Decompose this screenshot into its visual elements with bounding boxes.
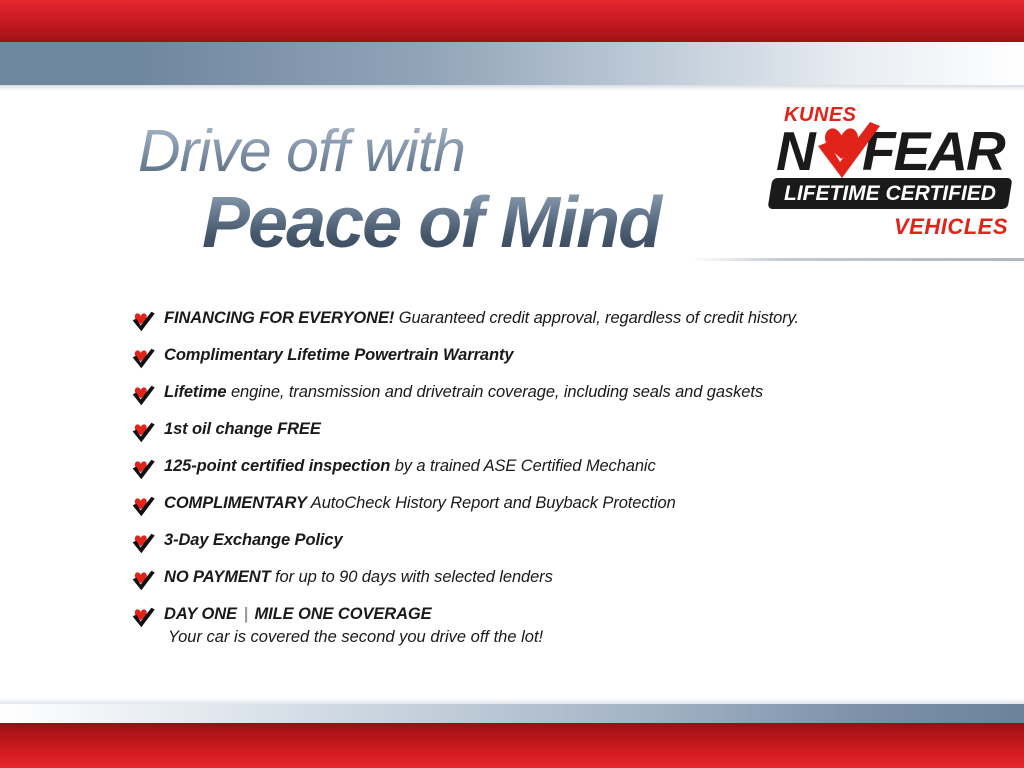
check-heart-bullet-icon (130, 496, 157, 517)
bottom-gray-gradient-band (0, 704, 1024, 723)
benefit-item: Complimentary Lifetime Powertrain Warran… (130, 345, 960, 376)
check-heart-bullet-icon (130, 311, 157, 332)
check-heart-bullet-icon (130, 348, 157, 369)
check-heart-bullet-icon (130, 459, 157, 480)
benefit-text: DAY ONE | MILE ONE COVERAGE (164, 604, 960, 625)
benefit-bold-secondary: MILE ONE COVERAGE (254, 605, 431, 623)
logo-letter-n: N (776, 125, 814, 177)
logo-word-fear: FEAR (862, 125, 1004, 177)
benefit-item: Lifetime engine, transmission and drivet… (130, 382, 960, 413)
logo-lifetime-certified-text: LIFETIME CERTIFIED (770, 178, 1010, 209)
headline-block: Drive off with Peace of Mind (136, 122, 716, 259)
benefit-detail: by a trained ASE Certified Mechanic (390, 457, 655, 475)
benefit-separator: | (237, 605, 255, 623)
benefit-item: NO PAYMENT for up to 90 days with select… (130, 567, 960, 598)
bottom-red-accent-band (0, 723, 1024, 768)
benefit-item: FINANCING FOR EVERYONE! Guaranteed credi… (130, 308, 960, 339)
headline-line-2: Peace of Mind (202, 187, 716, 259)
benefit-text: FINANCING FOR EVERYONE! Guaranteed credi… (164, 308, 960, 329)
benefit-detail: AutoCheck History Report and Buyback Pro… (307, 494, 676, 512)
benefit-text: 1st oil change FREE (164, 419, 960, 440)
check-heart-bullet-icon (130, 570, 157, 591)
benefit-text: 125-point certified inspection by a trai… (164, 456, 960, 477)
benefit-text: NO PAYMENT for up to 90 days with select… (164, 567, 960, 588)
benefit-item: COMPLIMENTARY AutoCheck History Report a… (130, 493, 960, 524)
benefit-bold: 125-point certified inspection (164, 457, 390, 475)
benefit-bold: Complimentary Lifetime Powertrain Warran… (164, 346, 513, 364)
check-heart-icon (816, 122, 882, 180)
benefit-item: 1st oil change FREE (130, 419, 960, 450)
benefit-item: 3-Day Exchange Policy (130, 530, 960, 561)
benefit-detail: for up to 90 days with selected lenders (271, 568, 553, 586)
benefit-detail: engine, transmission and drivetrain cove… (226, 383, 763, 401)
benefit-bold: 1st oil change FREE (164, 420, 321, 438)
benefit-text: 3-Day Exchange Policy (164, 530, 960, 551)
benefit-item: DAY ONE | MILE ONE COVERAGEYour car is c… (130, 604, 960, 648)
top-band-shadow (0, 85, 1024, 91)
benefit-bold: DAY ONE (164, 605, 237, 623)
kunes-no-fear-logo: KUNES N FEAR LIFETIME CERTIFIED VEHICLES (770, 104, 1016, 250)
benefits-list: FINANCING FOR EVERYONE! Guaranteed credi… (130, 308, 960, 654)
logo-vehicles-text: VEHICLES (894, 214, 1008, 240)
logo-nofear-wordmark: N FEAR (776, 125, 1016, 177)
benefit-bold: COMPLIMENTARY (164, 494, 307, 512)
benefit-bold: NO PAYMENT (164, 568, 271, 586)
header-divider (690, 258, 1024, 261)
check-heart-bullet-icon (130, 607, 157, 628)
benefit-bold: Lifetime (164, 383, 226, 401)
benefit-subtext: Your car is covered the second you drive… (164, 626, 960, 648)
benefit-bold: 3-Day Exchange Policy (164, 531, 343, 549)
top-gray-gradient-band (0, 42, 1024, 85)
check-heart-bullet-icon (130, 422, 157, 443)
benefit-text: COMPLIMENTARY AutoCheck History Report a… (164, 493, 960, 514)
benefit-item: 125-point certified inspection by a trai… (130, 456, 960, 487)
top-red-accent-band (0, 0, 1024, 42)
benefit-text: Complimentary Lifetime Powertrain Warran… (164, 345, 960, 366)
check-heart-bullet-icon (130, 533, 157, 554)
benefit-detail: Guaranteed credit approval, regardless o… (394, 309, 799, 327)
check-heart-bullet-icon (130, 385, 157, 406)
headline-line-1: Drive off with (138, 122, 716, 181)
benefit-text: Lifetime engine, transmission and drivet… (164, 382, 960, 403)
benefit-bold: FINANCING FOR EVERYONE! (164, 309, 394, 327)
